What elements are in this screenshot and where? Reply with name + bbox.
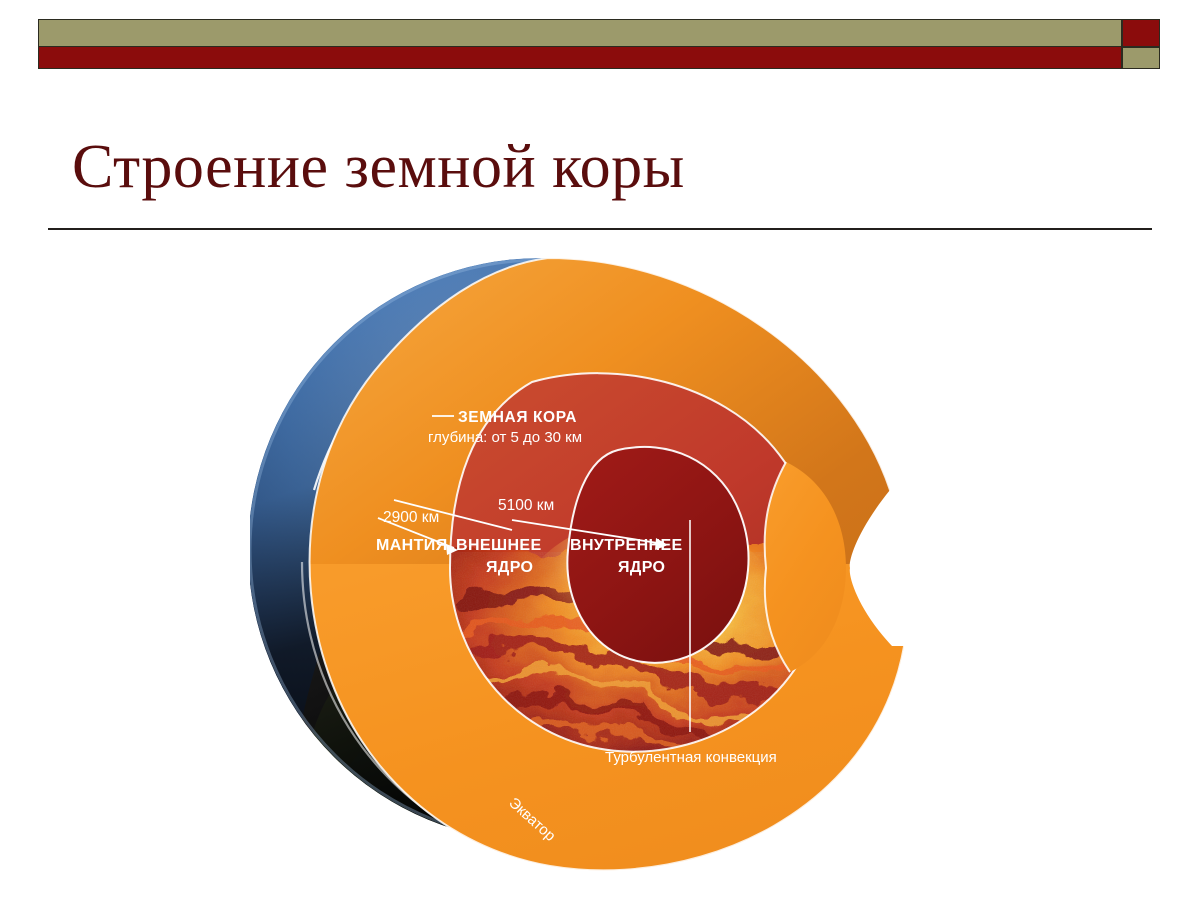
label-crust: ЗЕМНАЯ КОРА	[458, 409, 577, 426]
title-divider	[48, 228, 1152, 230]
header-square-khaki	[1122, 47, 1160, 69]
label-convection: Турбулентная конвекция	[605, 749, 777, 766]
earth-cutaway-diagram: ЗЕМНАЯ КОРА глубина: от 5 до 30 км 2900 …	[250, 232, 950, 892]
label-outer-core-depth: 5100 км	[498, 497, 554, 514]
label-crust-depth: глубина: от 5 до 30 км	[428, 429, 582, 446]
label-inner-core-line1: ВНУТРЕННЕЕ	[570, 537, 683, 554]
header-decoration	[38, 19, 1160, 69]
label-mantle: МАНТИЯ	[376, 537, 448, 554]
label-outer-core-line2: ЯДРО	[486, 559, 533, 576]
header-square-red	[1122, 19, 1160, 47]
header-bar-khaki	[38, 19, 1122, 47]
label-mantle-depth: 2900 км	[383, 509, 439, 526]
label-outer-core-line1: ВНЕШНЕЕ	[456, 537, 542, 554]
header-bar-red	[38, 47, 1122, 69]
page-title: Строение земной коры	[72, 128, 1122, 206]
label-inner-core-line2: ЯДРО	[618, 559, 665, 576]
